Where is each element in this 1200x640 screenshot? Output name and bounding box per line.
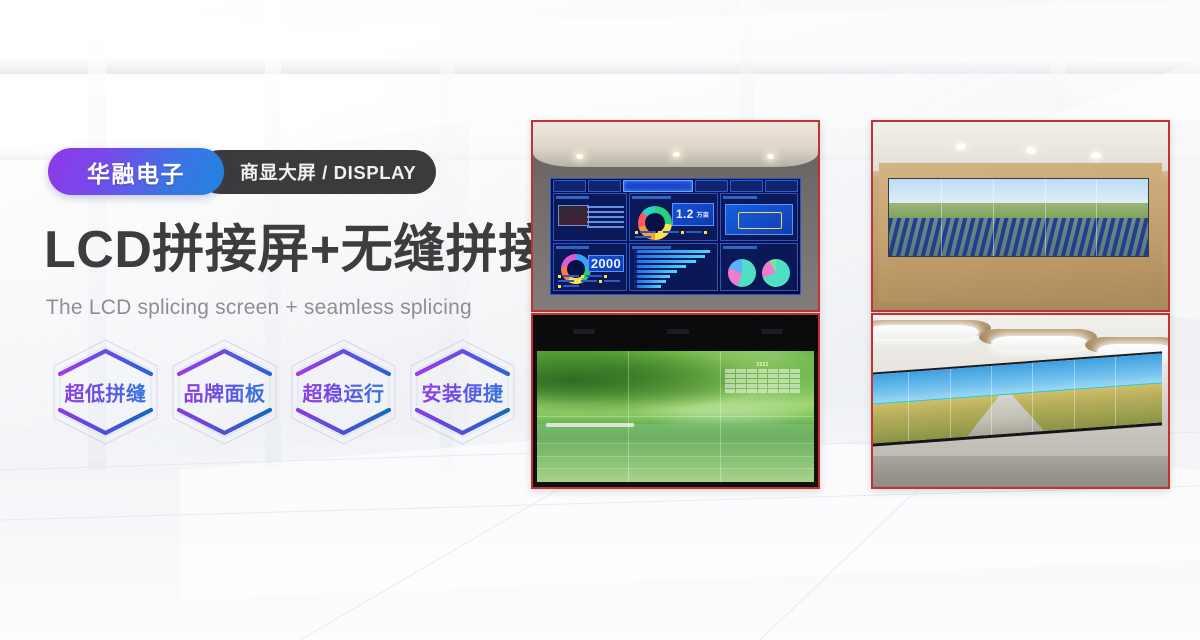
feature-label: 超低拼缝	[46, 378, 165, 407]
video-wall-screen: 2021	[537, 351, 813, 482]
photo-dashboard-video-wall: 1.2 万亩 2000	[531, 120, 820, 312]
category-badge: 商显大屏 / DISPLAY	[198, 150, 436, 194]
video-wall-screen	[888, 178, 1150, 257]
brand-badge-label: 华融电子	[87, 155, 185, 189]
badge-row: 华融电子 商显大屏 / DISPLAY	[48, 148, 436, 195]
brand-badge: 华融电子	[48, 148, 224, 195]
dashboard-primary-stat: 1.2	[676, 207, 694, 221]
category-badge-label: 商显大屏 / DISPLAY	[240, 159, 416, 185]
photo-solar-farm-video-wall	[871, 120, 1170, 312]
dashboard-secondary-stat: 2000	[591, 256, 621, 271]
dashboard-screen: 1.2 万亩 2000	[550, 178, 801, 295]
feature-label: 超稳运行	[284, 378, 403, 407]
subheadline: The LCD splicing screen + seamless splic…	[46, 296, 472, 320]
photo-beach-boardwalk-video-wall	[871, 313, 1170, 489]
feature-label: 品牌面板	[165, 378, 284, 407]
calendar-overlay: 2021	[725, 362, 800, 420]
feature-item-1: 品牌面板	[165, 336, 284, 448]
feature-list: 超低拼缝 品牌面板 超稳运行	[46, 336, 522, 448]
feature-item-3: 安装便捷	[403, 336, 522, 448]
headline: LCD拼接屏+无缝拼接	[44, 224, 551, 276]
feature-item-2: 超稳运行	[284, 336, 403, 448]
photo-green-lake-video-wall: 2021	[531, 313, 820, 489]
dashboard-primary-unit: 万亩	[697, 210, 710, 219]
feature-label: 安装便捷	[403, 378, 522, 407]
feature-item-0: 超低拼缝	[46, 336, 165, 448]
promo-banner: 华融电子 商显大屏 / DISPLAY LCD拼接屏+无缝拼接 The LCD …	[0, 0, 1200, 640]
